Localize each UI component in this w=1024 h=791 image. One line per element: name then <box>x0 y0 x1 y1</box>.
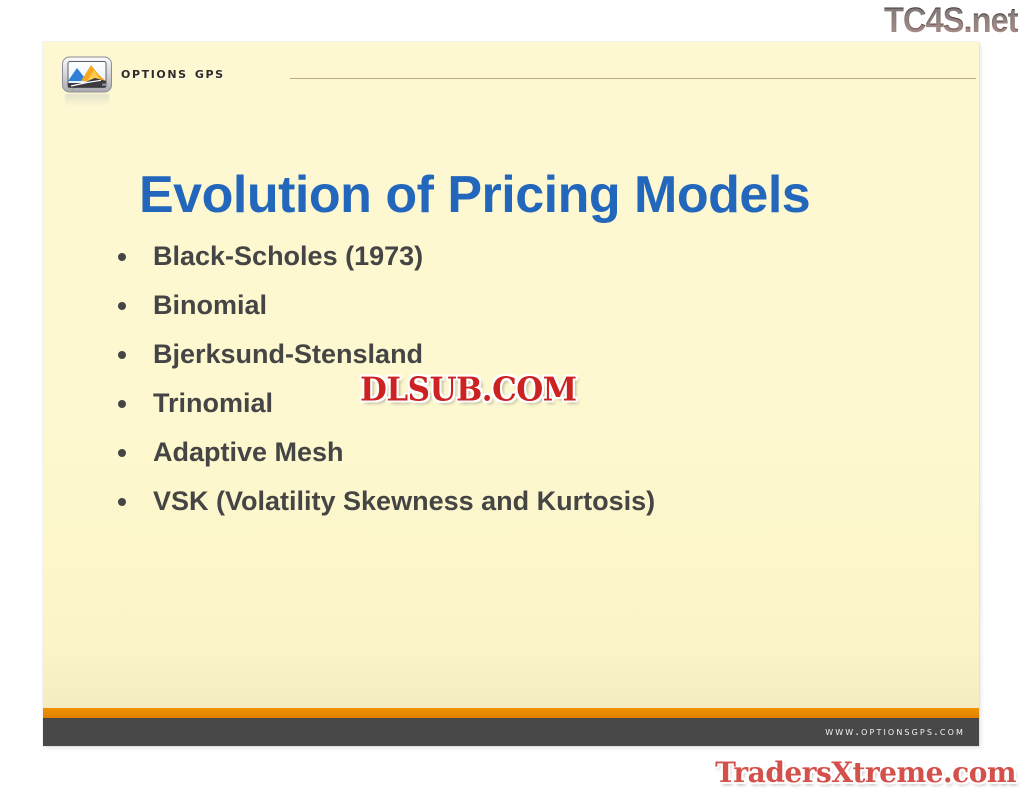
header-divider <box>290 78 976 79</box>
list-item: Adaptive Mesh <box>110 428 940 477</box>
list-item: Binomial <box>110 281 940 330</box>
dlsub-watermark: DLSUB.COM <box>360 371 577 409</box>
logo-reflection <box>65 94 109 108</box>
list-item: VSK (Volatility Skewness and Kurtosis) <box>110 477 940 526</box>
list-item-label: VSK (Volatility Skewness and Kurtosis) <box>153 486 655 516</box>
bullet-dot-icon <box>118 400 126 408</box>
slide-footer: www.OptionsGPS.com <box>43 718 979 746</box>
tradersxtreme-watermark: TradersXtreme.com <box>715 756 1016 789</box>
bullet-dot-icon <box>118 498 126 506</box>
list-item-label: Black-Scholes (1973) <box>153 241 423 271</box>
bullet-dot-icon <box>118 253 126 261</box>
slide-header: Options GPS <box>43 42 979 100</box>
brand-name: Options GPS <box>121 63 225 82</box>
bullet-dot-icon <box>118 302 126 310</box>
bullet-dot-icon <box>118 449 126 457</box>
list-item-label: Binomial <box>153 290 267 320</box>
gps-device-icon <box>61 55 113 94</box>
footer-accent-bar <box>43 708 979 718</box>
tc4s-watermark: TC4S.net <box>884 1 1018 41</box>
list-item-label: Bjerksund-Stensland <box>153 339 423 369</box>
presentation-slide: Options GPS Evolution of Pricing Models … <box>43 42 979 746</box>
list-item: Black-Scholes (1973) <box>110 232 940 281</box>
footer-url: www.OptionsGPS.com <box>825 724 965 738</box>
bullet-dot-icon <box>118 351 126 359</box>
page-title: Evolution of Pricing Models <box>139 165 939 225</box>
list-item-label: Adaptive Mesh <box>153 437 344 467</box>
list-item-label: Trinomial <box>153 388 273 418</box>
